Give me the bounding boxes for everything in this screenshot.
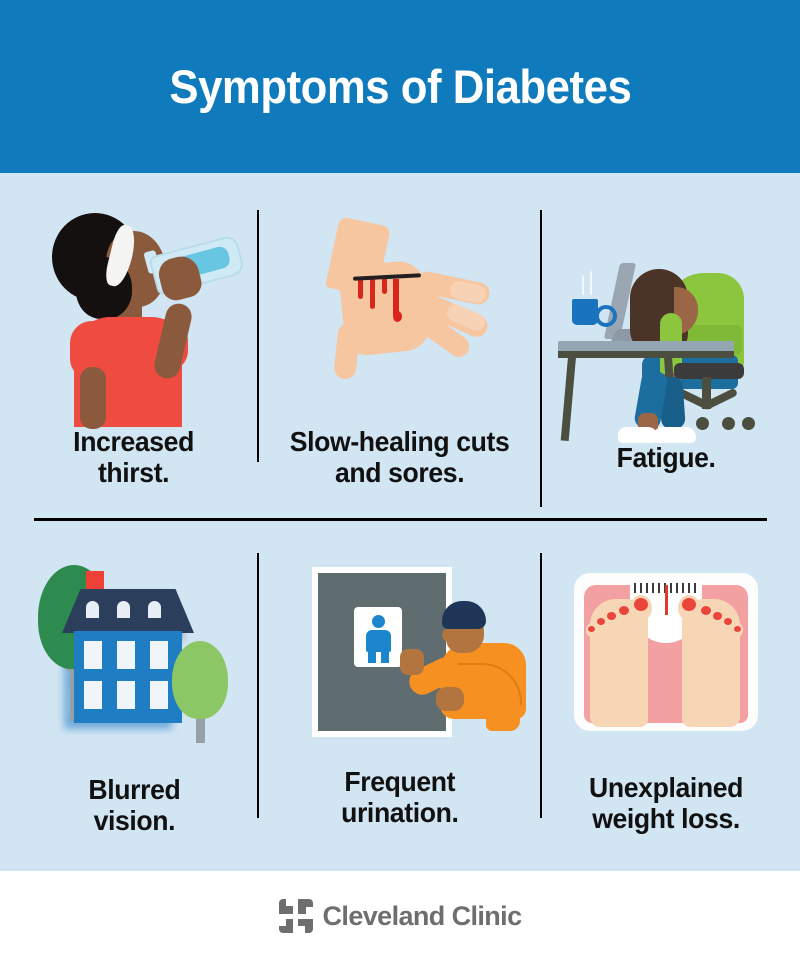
symptom-panel-fatigue: Fatigue.	[540, 221, 792, 473]
bleeding-hand-cut-icon	[290, 205, 510, 420]
symptom-label: Frequent urination.	[341, 766, 458, 829]
tired-person-at-desk-icon	[556, 221, 776, 436]
header-banner: Symptoms of Diabetes	[0, 0, 800, 173]
symptom-label: Increased thirst.	[74, 426, 195, 489]
feet-on-bathroom-scale-icon	[556, 551, 776, 766]
symptom-label: Slow-healing cuts and sores.	[290, 426, 510, 489]
cleveland-clinic-logo-icon	[279, 899, 313, 933]
page-title: Symptoms of Diabetes	[169, 63, 631, 110]
brand-name: Cleveland Clinic	[323, 901, 522, 932]
symptom-panel-slow-healing-cuts: Slow-healing cuts and sores.	[274, 205, 526, 489]
footer-branding: Cleveland Clinic	[0, 871, 800, 961]
symptom-label: Blurred vision.	[88, 774, 180, 837]
symptom-panel-blurred-vision: Blurred vision.	[8, 553, 260, 837]
symptoms-grid-area: Increased thirst.	[0, 173, 800, 871]
symptoms-grid: Increased thirst.	[0, 173, 800, 871]
person-knocking-restroom-door-icon	[290, 545, 510, 760]
blurred-house-with-trees-icon	[24, 553, 244, 768]
row-divider	[34, 518, 767, 521]
symptom-label: Fatigue.	[617, 442, 716, 473]
symptom-label: Unexplained weight loss.	[589, 772, 743, 835]
woman-drinking-water-bottle-icon	[24, 205, 244, 420]
symptom-panel-frequent-urination: Frequent urination.	[274, 545, 526, 829]
symptom-panel-unexplained-weight-loss: Unexplained weight loss.	[540, 551, 792, 835]
symptom-panel-increased-thirst: Increased thirst.	[8, 205, 260, 489]
infographic-root: Symptoms of Diabetes	[0, 0, 800, 961]
